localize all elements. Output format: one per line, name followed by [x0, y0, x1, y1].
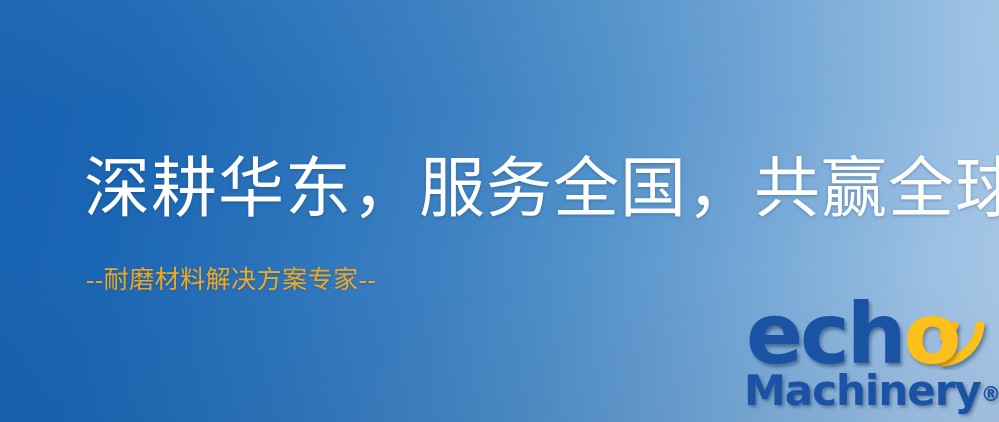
echo-machinery-logo[interactable]: echo Machinery®	[742, 292, 999, 422]
logo-tagline: Machinery®	[744, 368, 999, 417]
logo-wordmark: echo	[746, 292, 958, 376]
banner-subtitle: --耐磨材料解决方案专家--	[86, 266, 376, 296]
logo-tagline-text: Machinery	[744, 366, 981, 415]
promotional-banner: 深耕华东，服务全国，共赢全球 --耐磨材料解决方案专家-- echo Machi…	[0, 0, 999, 422]
registered-trademark-icon: ®	[981, 382, 999, 406]
banner-headline: 深耕华东，服务全国，共赢全球	[84, 152, 999, 228]
